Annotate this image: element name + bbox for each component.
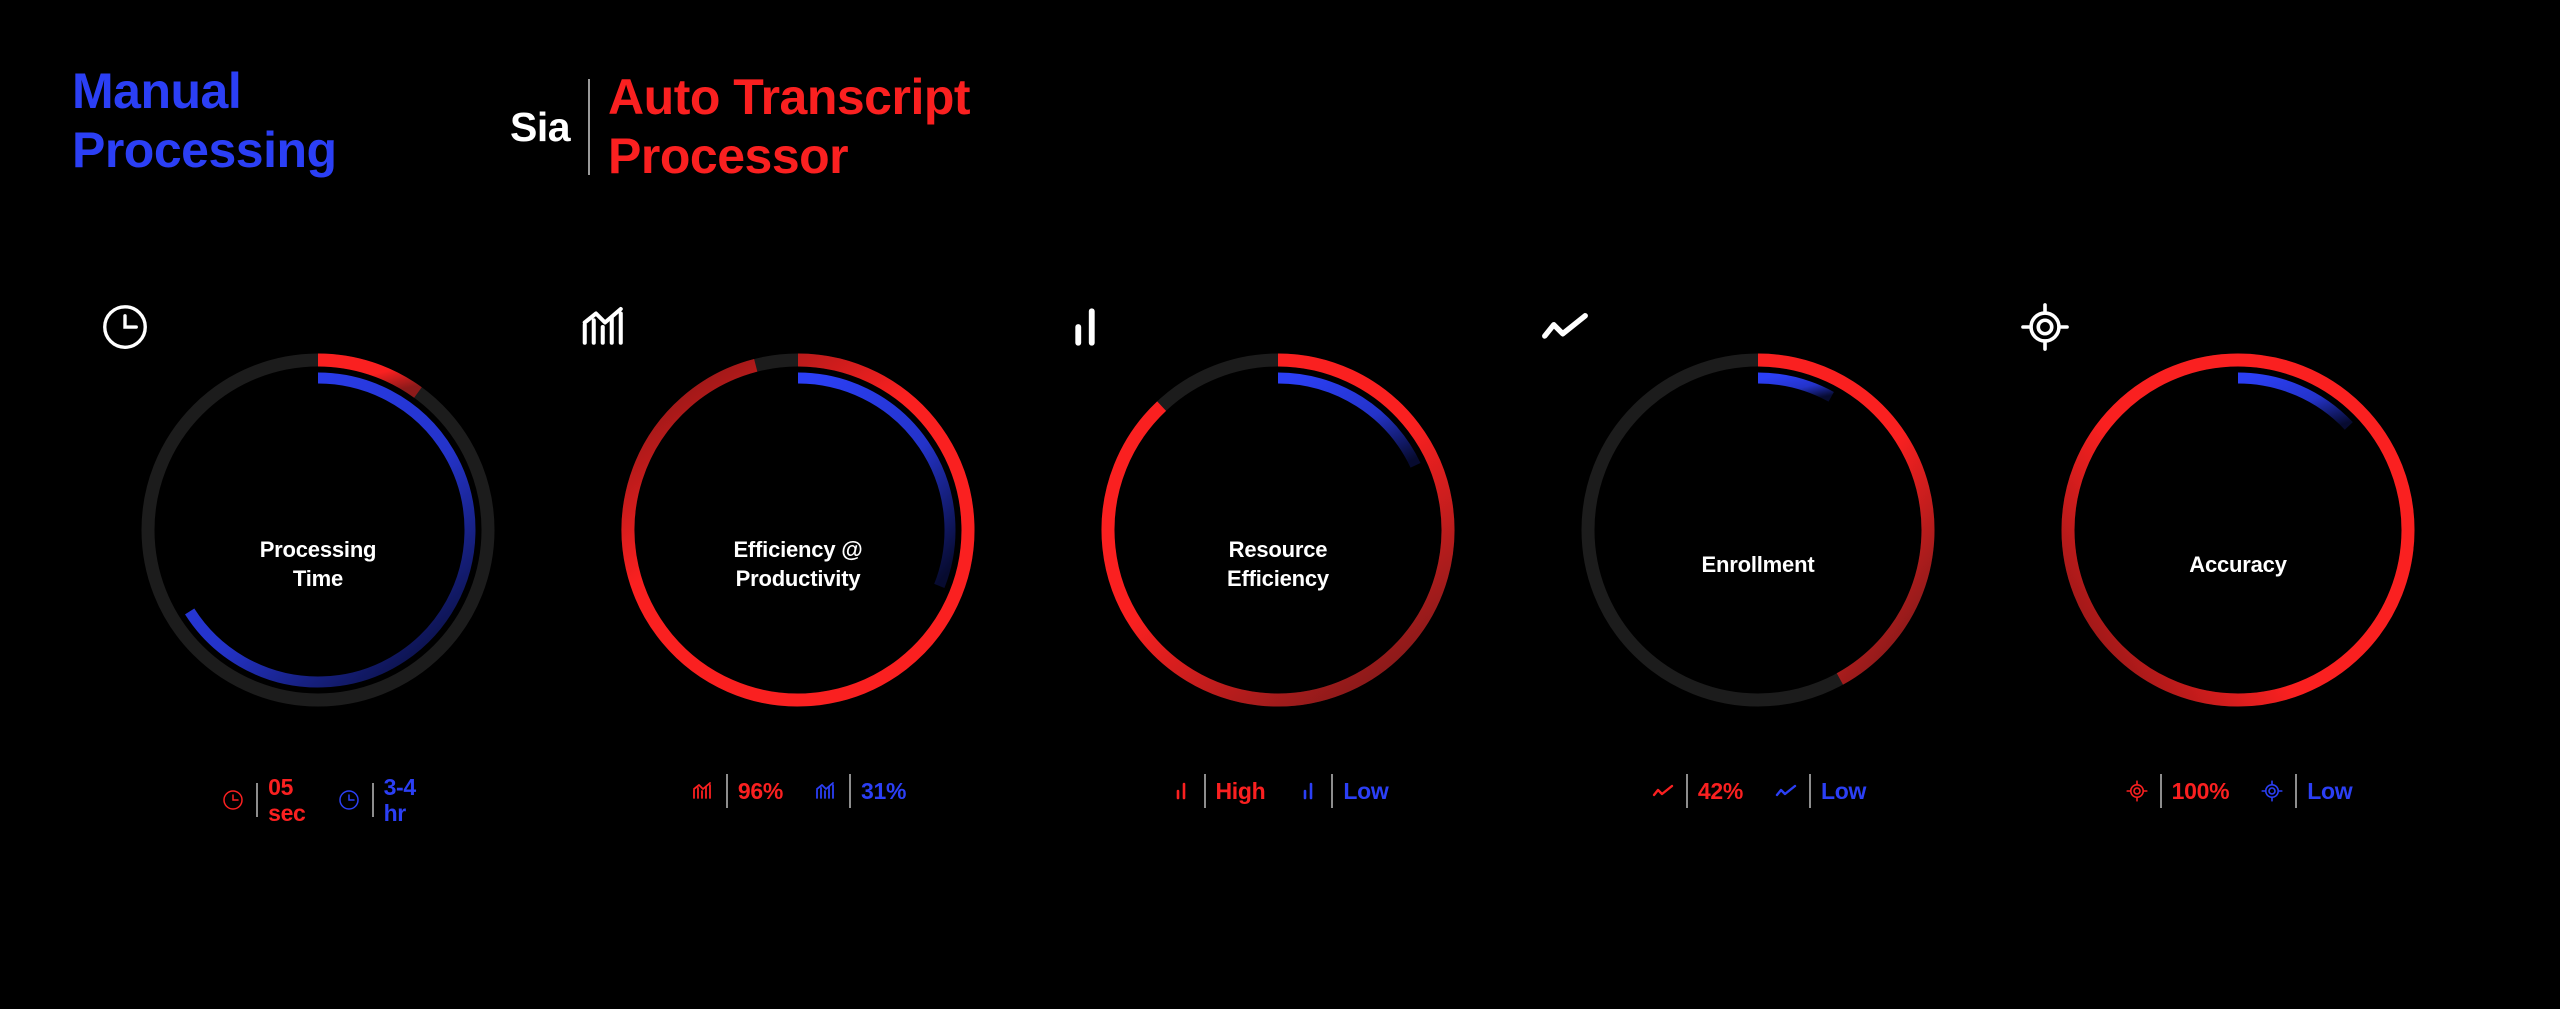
metric-ring-card[interactable]: Accuracy 100% [1998, 300, 2478, 827]
ring-gauge: Enrollment [1538, 300, 1978, 760]
ring-legend: 42% Low [1650, 774, 1866, 808]
legend-value-manual: Low [1343, 778, 1388, 804]
metric-ring-card[interactable]: Enrollment 42% Low [1518, 300, 1998, 827]
legend-item-manual[interactable]: Low [1295, 774, 1388, 808]
ring-arc-red [1108, 360, 1448, 700]
ring-arc-red [628, 360, 968, 700]
metric-ring-card[interactable]: Processing Time 05 sec 3-4 hr [78, 300, 558, 827]
bar-line-chart-icon [813, 778, 839, 804]
ring-gauge: Processing Time [98, 300, 538, 760]
clock-icon [220, 787, 246, 813]
ring-arc-blue [190, 378, 470, 682]
legend-value-auto: 05 sec [268, 774, 305, 827]
brand-group: Sia Auto Transcript Processor [510, 62, 970, 186]
legend-divider [1686, 774, 1688, 808]
legend-item-auto[interactable]: 05 sec [220, 774, 305, 827]
auto-transcript-processor-title: Auto Transcript Processor [590, 68, 970, 186]
legend-value-manual: 3-4 hr [384, 774, 416, 827]
legend-divider [1204, 774, 1206, 808]
bar-line-chart-icon [690, 778, 716, 804]
metric-rings-row: Processing Time 05 sec 3-4 hr [0, 300, 2560, 827]
legend-value-auto: 96% [738, 778, 783, 804]
metric-ring-card[interactable]: Resource Efficiency High Low [1038, 300, 1518, 827]
target-icon [2259, 778, 2285, 804]
ring-arc-red [1758, 360, 1928, 679]
ring-legend: High Low [1168, 774, 1389, 808]
bars-icon [1168, 778, 1194, 804]
legend-item-manual[interactable]: 31% [813, 774, 906, 808]
ring-legend: 100% Low [2124, 774, 2353, 808]
trend-line-icon [1773, 778, 1799, 804]
ring-legend: 96% 31% [690, 774, 906, 808]
legend-item-auto[interactable]: High [1168, 774, 1266, 808]
legend-value-auto: High [1216, 778, 1266, 804]
legend-value-manual: Low [1821, 778, 1866, 804]
legend-item-auto[interactable]: 100% [2124, 774, 2230, 808]
legend-value-auto: 100% [2172, 778, 2230, 804]
legend-divider [2160, 774, 2162, 808]
ring-arc-blue [798, 378, 950, 586]
legend-item-manual[interactable]: Low [2259, 774, 2352, 808]
legend-item-auto[interactable]: 42% [1650, 774, 1743, 808]
legend-divider [1809, 774, 1811, 808]
ring-legend: 05 sec 3-4 hr [220, 774, 416, 827]
legend-divider [256, 783, 258, 817]
header: Manual Processing Sia Auto Transcript Pr… [72, 62, 970, 186]
legend-divider [726, 774, 728, 808]
bars-icon [1295, 778, 1321, 804]
legend-divider [2295, 774, 2297, 808]
legend-divider [849, 774, 851, 808]
target-icon [2124, 778, 2150, 804]
ring-gauge: Accuracy [2018, 300, 2458, 760]
legend-value-auto: 42% [1698, 778, 1743, 804]
legend-value-manual: 31% [861, 778, 906, 804]
ring-arc-red [2068, 360, 2408, 700]
legend-item-manual[interactable]: Low [1773, 774, 1866, 808]
ring-arc-blue [1758, 378, 1831, 397]
legend-item-auto[interactable]: 96% [690, 774, 783, 808]
clock-icon [336, 787, 362, 813]
manual-processing-title: Manual Processing [72, 62, 492, 180]
ring-track [148, 360, 488, 700]
ring-arc-blue [1278, 378, 1416, 465]
legend-value-manual: Low [2307, 778, 2352, 804]
trend-line-icon [1650, 778, 1676, 804]
ring-gauge: Resource Efficiency [1058, 300, 1498, 760]
legend-divider [372, 783, 374, 817]
legend-divider [1331, 774, 1333, 808]
ring-gauge: Efficiency @ Productivity [578, 300, 1018, 760]
brand-name: Sia [510, 104, 588, 151]
metric-ring-card[interactable]: Efficiency @ Productivity 96% [558, 300, 1038, 827]
legend-item-manual[interactable]: 3-4 hr [336, 774, 416, 827]
